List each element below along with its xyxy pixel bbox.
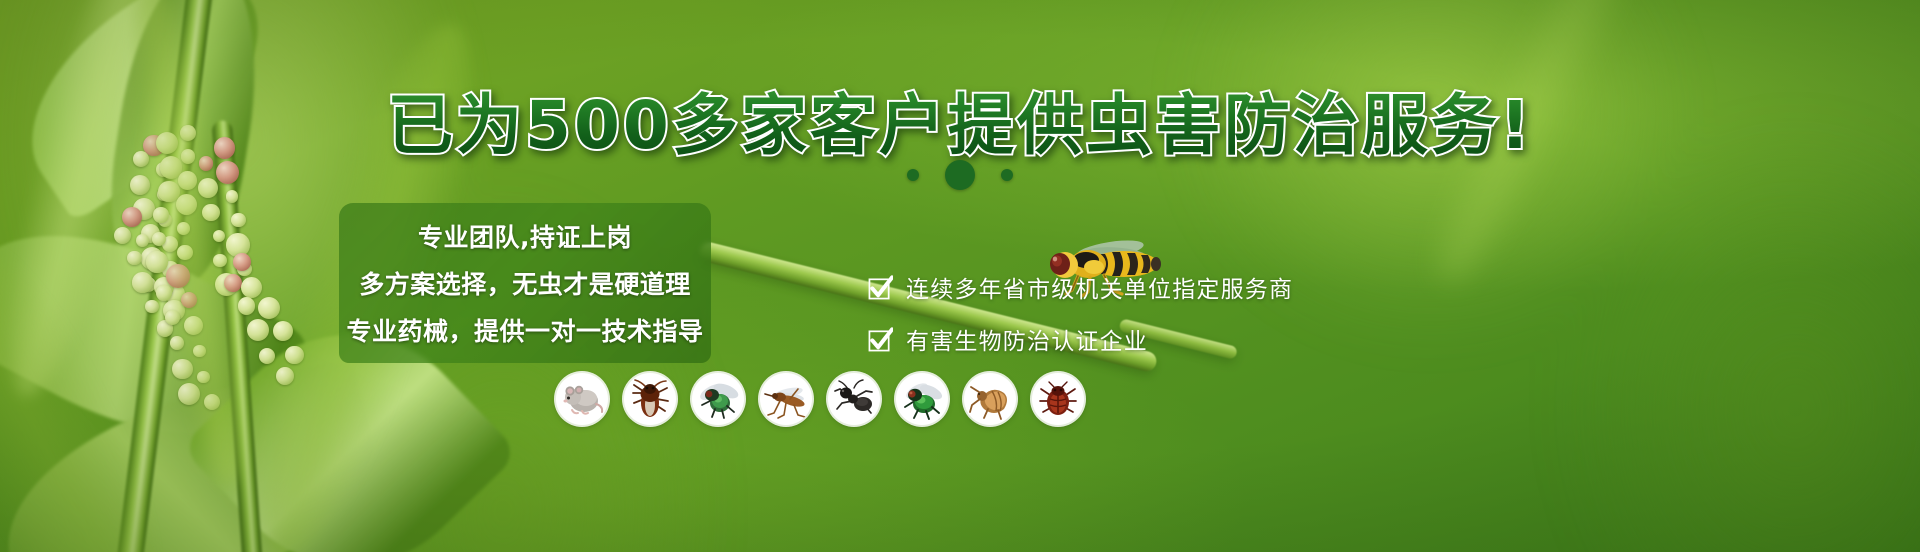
mouse-icon bbox=[556, 373, 608, 425]
greenfly-icon bbox=[896, 373, 948, 425]
cockroach-icon bbox=[624, 373, 676, 425]
checkbox-checked-icon bbox=[868, 275, 893, 300]
slogan-line-3: 专业药械，提供一对一技术指导 bbox=[347, 312, 704, 348]
feature-bullet-list: 连续多年省市级机关单位指定服务商 有害生物防治认证企业 bbox=[868, 270, 1293, 356]
bedbug-icon bbox=[1032, 373, 1084, 425]
list-item: 连续多年省市级机关单位指定服务商 bbox=[868, 270, 1293, 304]
dot-large-icon bbox=[945, 160, 975, 190]
checkbox-checked-icon bbox=[868, 327, 893, 352]
list-item: 有害生物防治认证企业 bbox=[868, 322, 1293, 356]
slogan-line-2: 多方案选择，无虫才是硬道理 bbox=[359, 265, 691, 301]
mosquito-icon bbox=[760, 373, 812, 425]
flea-icon bbox=[964, 373, 1016, 425]
blowfly-icon bbox=[692, 373, 744, 425]
decorative-dots bbox=[0, 160, 1920, 190]
pest-icon-row bbox=[556, 373, 1084, 425]
list-item-label: 连续多年省市级机关单位指定服务商 bbox=[906, 270, 1293, 304]
hero-banner: 已为500多家客户提供虫害防治服务! 已为500多家客户提供虫害防治服务! 专业… bbox=[0, 0, 1920, 552]
ant-icon bbox=[828, 373, 880, 425]
list-item-label: 有害生物防治认证企业 bbox=[906, 322, 1148, 356]
slogan-line-1: 专业团队,持证上岗 bbox=[418, 218, 632, 254]
dot-small-right-icon bbox=[1001, 169, 1013, 181]
dot-small-left-icon bbox=[907, 169, 919, 181]
slogan-panel: 专业团队,持证上岗 多方案选择，无虫才是硬道理 专业药械，提供一对一技术指导 bbox=[339, 203, 711, 363]
